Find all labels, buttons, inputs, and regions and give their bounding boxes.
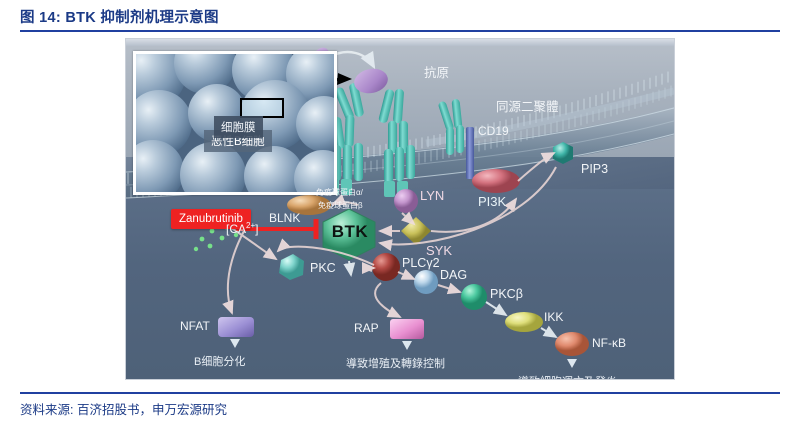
divider-bottom	[20, 392, 780, 394]
label-pip3: PIP3	[581, 163, 608, 176]
ikk-node	[505, 312, 543, 332]
plcg2-node	[372, 253, 400, 281]
pi3k-node	[472, 169, 520, 193]
label-ikk: IKK	[544, 311, 563, 323]
label-cd19: CD19	[478, 125, 509, 137]
outcome-b-cell-differentiation: B细胞分化	[194, 353, 245, 369]
label-nfat: NFAT	[180, 320, 210, 332]
label-nfkb: NF-κB	[592, 337, 626, 349]
label-pi3k: PI3K	[478, 195, 506, 208]
lyn-node	[394, 189, 418, 213]
dag-node	[414, 270, 438, 294]
cd19-protein	[466, 127, 474, 179]
rap-node	[390, 319, 424, 339]
inset-zoom-box	[240, 98, 284, 118]
label-lyn: LYN	[420, 189, 444, 202]
label-ig-alpha: 免疫球蛋白α/	[316, 189, 363, 197]
nfat-node	[218, 317, 254, 337]
pkc-node	[279, 254, 304, 280]
label-plcg2: PLCγ2	[402, 257, 440, 270]
label-calcium: [CA2+]	[226, 222, 258, 235]
label-antigen: 抗原	[424, 67, 449, 80]
label-ig-beta: 免疫球蛋白β	[318, 202, 363, 210]
label-dag: DAG	[440, 269, 467, 282]
nfkb-node	[555, 332, 589, 356]
divider-top	[20, 30, 780, 32]
label-btk: BTK	[327, 222, 373, 242]
outcome-apoptosis-inflammation: 導致細胞凋亡及發炎	[518, 373, 617, 380]
inset-pointer-head	[337, 73, 352, 85]
label-blnk: BLNK	[269, 212, 300, 224]
page-title: 图 14: BTK 抑制剂机理示意图	[20, 6, 219, 27]
label-homodimer: 同源二聚體	[496, 101, 559, 114]
label-pkcb: PKCβ	[490, 288, 523, 301]
label-cell-membrane: 细胞膜	[214, 116, 263, 138]
diagram-panel: 恶性B细胞 细胞膜 抗原 同源二聚體 CD19 免疫球蛋白α/ 免疫球蛋白β B…	[125, 38, 675, 380]
label-rap: RAP	[354, 322, 379, 334]
syk-node	[401, 217, 431, 245]
outcome-proliferation-transcription: 導致增殖及轉錄控制	[346, 355, 445, 371]
label-pkc: PKC	[310, 262, 336, 275]
pkcb-node	[461, 284, 487, 310]
bcr-complex-right	[438, 99, 464, 155]
source-note: 资料来源: 百济招股书，申万宏源研究	[20, 399, 227, 418]
